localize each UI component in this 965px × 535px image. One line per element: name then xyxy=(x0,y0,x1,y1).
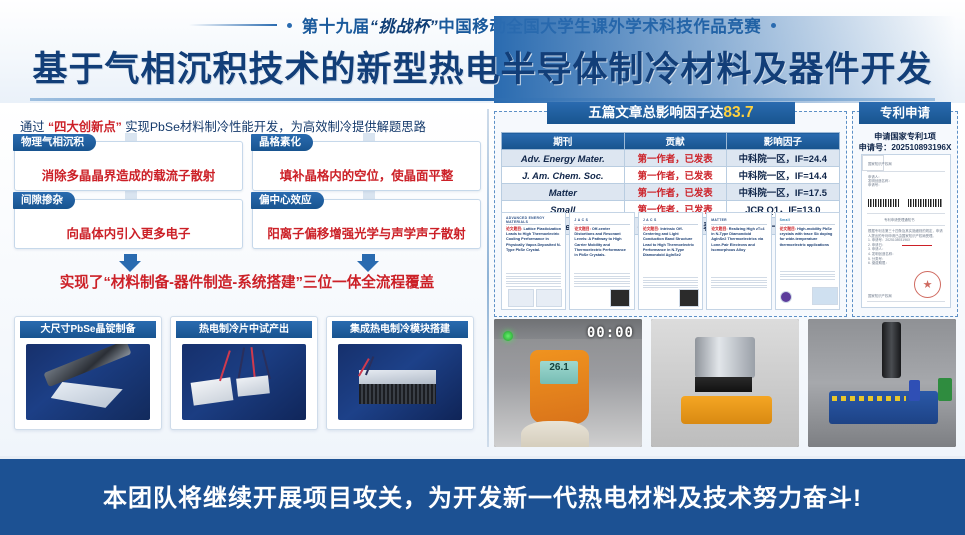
paper-thumbnail[interactable]: MATTER 论文题目: Realizing High zT=4 in N-Ty… xyxy=(706,212,771,310)
innovation-tag-4: 偏中心效应 xyxy=(251,192,324,209)
paper-thumbnail[interactable]: J A C S 论文题目: Off-center Distortions and… xyxy=(569,212,634,310)
thumb-journal-name: Small xyxy=(780,218,791,222)
publications-banner-text: 五篇文章总影响因子达 xyxy=(588,105,723,120)
thumb-label: 论文题目: xyxy=(574,227,590,231)
thumb-label: 论文题目: xyxy=(780,227,796,231)
paper-thumbnail[interactable]: ADVANCED ENERGY MATERIALS 论文题目: Lattice … xyxy=(501,212,566,310)
publications-panel: 五篇文章总影响因子达83.7 期刊 贡献 影响因子 Adv. Energy Ma… xyxy=(494,111,847,317)
cell-contribution: 第一作者，已发表 xyxy=(624,150,726,167)
thermometer-reading: 26.1 xyxy=(540,361,578,384)
thumb-journal-name: ADVANCED ENERGY MATERIALS xyxy=(506,216,561,224)
thumb-label: 论文题目: xyxy=(643,227,659,231)
cell-journal: Matter xyxy=(502,184,625,201)
poster-header: 第十九届“挑战杯”中国移动全国大学生课外学术科技作品竞赛 基于气相沉积技术的新型… xyxy=(0,0,965,103)
thumb-label: 论文题目: xyxy=(711,227,727,231)
table-row: Adv. Energy Mater. 第一作者，已发表 中科院一区，IF=24.… xyxy=(502,150,840,167)
title-divider xyxy=(30,98,935,101)
publications-banner: 五篇文章总影响因子达83.7 xyxy=(547,102,795,124)
competition-cup: “挑战杯” xyxy=(370,18,439,36)
panel-divider xyxy=(487,109,489,447)
cell-journal: Adv. Energy Mater. xyxy=(502,150,625,167)
process-card-3[interactable]: 集成热电制冷模块搭建 xyxy=(326,316,474,430)
competition-line: 第十九届“挑战杯”中国移动全国大学生课外学术科技作品竞赛 xyxy=(0,12,965,38)
thumb-title: Intrinsic Off-Centering and Light Conduc… xyxy=(643,227,694,257)
thumb-journal-name: J A C S xyxy=(574,218,588,222)
patent-number-line: 申请号：202510893196X xyxy=(853,141,957,153)
process-photo-row: 大尺寸PbSe晶锭制备 热电制冷片中试产出 集成热 xyxy=(14,316,476,428)
col-impact: 影响因子 xyxy=(726,133,839,150)
footer-top-rule xyxy=(0,456,965,459)
paper-thumbnail[interactable]: Small 论文题目: High-mobility PbSe crystals … xyxy=(775,212,840,310)
thumb-title: Off-center Distortions and Resonant Leve… xyxy=(574,227,626,257)
lead-sentence: 通过 “四大创新点” 实现PbSe材料制冷性能开发，为高效制冷提供解题思路 xyxy=(20,117,475,135)
poster-body: 通过 “四大创新点” 实现PbSe材料制冷性能开发，为高效制冷提供解题思路 物理… xyxy=(0,103,965,456)
patent-certificate-image[interactable]: 国家知识产权局 申请人：发明创造名称：申请号： 专利申请受理通知书 根据专利法第… xyxy=(861,154,951,308)
paper-thumbnail[interactable]: J A C S 论文题目: Intrinsic Off-Centering an… xyxy=(638,212,703,310)
device-assembly-photo[interactable] xyxy=(808,319,956,447)
video-timer: 00:00 xyxy=(587,325,634,341)
innovation-text-1: 消除多晶晶界造成的载流子散射 xyxy=(15,159,242,190)
innovation-tag-1: 物理气相沉积 xyxy=(13,134,96,151)
col-journal: 期刊 xyxy=(502,133,625,150)
patent-panel: 专利申请 申请国家专利1项 申请号：202510893196X 国家知识产权局 … xyxy=(852,111,958,317)
lead-suffix: 实现PbSe材料制冷性能开发，为高效制冷提供解题思路 xyxy=(125,120,426,134)
innovation-card-2[interactable]: 晶格素化 填补晶格内的空位，使晶面平整 xyxy=(252,141,481,191)
table-header-row: 期刊 贡献 影响因子 xyxy=(502,133,840,150)
innovation-card-1[interactable]: 物理气相沉积 消除多晶晶界造成的载流子散射 xyxy=(14,141,243,191)
cooling-demo-photo[interactable] xyxy=(651,319,799,447)
innovation-card-4[interactable]: 偏中心效应 阳离子偏移增强光学与声学声子散射 xyxy=(252,199,481,249)
infrared-thermometer-video[interactable]: 26.1 00:00 xyxy=(494,319,642,447)
col-contribution: 贡献 xyxy=(624,133,726,150)
publications-total-if: 83.7 xyxy=(723,104,753,121)
table-row: J. Am. Chem. Soc. 第一作者，已发表 中科院一区，IF=14.4 xyxy=(502,167,840,184)
cell-impact: 中科院一区，IF=17.5 xyxy=(726,184,839,201)
innovation-tag-3: 间隙掺杂 xyxy=(13,192,75,209)
cell-contribution: 第一作者，已发表 xyxy=(624,184,726,201)
page-title: 基于气相沉积技术的新型热电半导体制冷材料及器件开发 xyxy=(0,41,965,92)
cell-contribution: 第一作者，已发表 xyxy=(624,167,726,184)
status-led-icon xyxy=(503,331,513,341)
poster-root: 第十九届“挑战杯”中国移动全国大学生课外学术科技作品竞赛 基于气相沉积技术的新型… xyxy=(0,0,965,535)
table-row: Matter 第一作者，已发表 中科院一区，IF=17.5 xyxy=(502,184,840,201)
thumb-journal-name: MATTER xyxy=(711,218,727,222)
process-image-3 xyxy=(338,344,462,420)
footer-slogan: 本团队将继续开展项目攻关，为开发新一代热电材料及技术努力奋斗! xyxy=(103,478,862,513)
innovation-text-2: 填补晶格内的空位，使晶面平整 xyxy=(253,159,480,190)
process-caption-3: 集成热电制冷模块搭建 xyxy=(332,321,468,338)
patent-banner: 专利申请 xyxy=(859,102,951,124)
innovation-tag-2: 晶格素化 xyxy=(251,134,313,151)
cell-impact: 中科院一区，IF=14.4 xyxy=(726,167,839,184)
thumb-label: 论文题目: xyxy=(506,227,522,231)
innovation-text-3: 向晶体内引入更多电子 xyxy=(15,217,242,248)
right-panel: 五篇文章总影响因子达83.7 期刊 贡献 影响因子 Adv. Energy Ma… xyxy=(494,107,956,451)
lead-highlight: “四大创新点” xyxy=(48,120,122,134)
innovation-card-3[interactable]: 间隙掺杂 向晶体内引入更多电子 xyxy=(14,199,243,249)
process-image-1 xyxy=(26,344,150,420)
innovation-cards: 物理气相沉积 消除多晶晶界造成的载流子散射 晶格素化 填补晶格内的空位，使晶面平… xyxy=(12,141,482,253)
process-image-2 xyxy=(182,344,306,420)
process-caption-1: 大尺寸PbSe晶锭制备 xyxy=(20,321,156,338)
left-summary: 实现了“材料制备-器件制造-系统搭建”三位一体全流程覆盖 xyxy=(16,271,478,292)
poster-footer: 本团队将继续开展项目攻关，为开发新一代热电材料及技术努力奋斗! xyxy=(0,456,965,535)
cell-impact: 中科院一区，IF=24.4 xyxy=(726,150,839,167)
header-rule-left xyxy=(189,24,277,26)
lead-prefix: 通过 xyxy=(20,120,45,134)
left-panel: 通过 “四大创新点” 实现PbSe材料制冷性能开发，为高效制冷提供解题思路 物理… xyxy=(12,111,482,448)
thumb-journal-name: J A C S xyxy=(643,218,657,222)
process-card-2[interactable]: 热电制冷片中试产出 xyxy=(170,316,318,430)
process-caption-2: 热电制冷片中试产出 xyxy=(176,321,312,338)
innovation-text-4: 阳离子偏移增强光学与声学声子散射 xyxy=(253,217,480,248)
paper-thumbnail-row: ADVANCED ENERGY MATERIALS 论文题目: Lattice … xyxy=(501,212,840,308)
media-row: 26.1 00:00 xyxy=(494,319,956,447)
cell-journal: J. Am. Chem. Soc. xyxy=(502,167,625,184)
header-dot-left xyxy=(287,23,292,28)
process-card-1[interactable]: 大尺寸PbSe晶锭制备 xyxy=(14,316,162,430)
competition-prefix: 第十九届 xyxy=(302,18,370,36)
